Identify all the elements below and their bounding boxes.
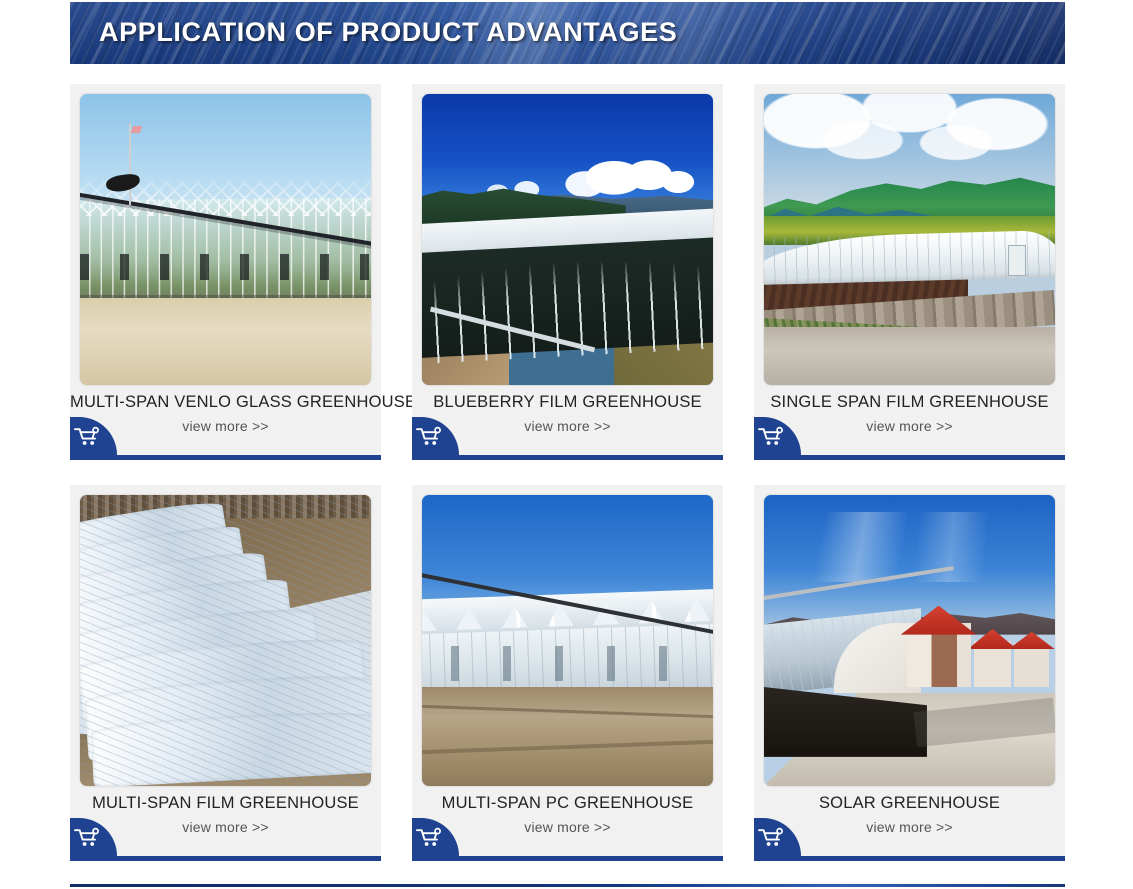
greenhouse-photo-venlo-glass [80, 94, 371, 385]
product-image[interactable] [422, 495, 713, 786]
view-more-link[interactable]: view more >> [754, 418, 1065, 434]
product-card[interactable]: MULTI-SPAN PC GREENHOUSE view more >> [412, 485, 723, 861]
product-image[interactable] [764, 495, 1055, 786]
shopping-cart-icon [416, 827, 443, 848]
greenhouse-photo-blueberry-film [422, 94, 713, 385]
product-card-body: SOLAR GREENHOUSE view more >> [754, 786, 1065, 856]
product-title: BLUEBERRY FILM GREENHOUSE [412, 393, 723, 412]
product-card-body: SINGLE SPAN FILM GREENHOUSE view more >> [754, 385, 1065, 455]
greenhouse-photo-solar [764, 495, 1055, 786]
product-card[interactable]: SOLAR GREENHOUSE view more >> [754, 485, 1065, 861]
shopping-cart-icon [416, 426, 443, 447]
view-more-link[interactable]: view more >> [754, 819, 1065, 835]
footer-divider [70, 884, 1065, 887]
product-row-2: MULTI-SPAN FILM GREENHOUSE view more >> [70, 485, 1065, 861]
view-more-link[interactable]: view more >> [412, 418, 723, 434]
view-more-link[interactable]: view more >> [70, 819, 381, 835]
product-image[interactable] [764, 94, 1055, 385]
product-title: SOLAR GREENHOUSE [754, 794, 1065, 813]
greenhouse-photo-multispan-film [80, 495, 371, 786]
shopping-cart-icon [74, 827, 101, 848]
product-title: MULTI-SPAN PC GREENHOUSE [412, 794, 723, 813]
product-card[interactable]: SINGLE SPAN FILM GREENHOUSE view more >> [754, 84, 1065, 460]
product-card-body: MULTI-SPAN PC GREENHOUSE view more >> [412, 786, 723, 856]
shopping-cart-icon [758, 426, 785, 447]
product-image[interactable] [422, 94, 713, 385]
product-card[interactable]: BLUEBERRY FILM GREENHOUSE view more >> [412, 84, 723, 460]
product-title: SINGLE SPAN FILM GREENHOUSE [754, 393, 1065, 412]
product-title: MULTI-SPAN VENLO GLASS GREENHOUSE [70, 393, 381, 412]
product-card-body: BLUEBERRY FILM GREENHOUSE view more >> [412, 385, 723, 455]
page-title: APPLICATION OF PRODUCT ADVANTAGES [99, 17, 677, 48]
product-grid: MULTI-SPAN VENLO GLASS GREENHOUSE view m… [70, 84, 1065, 861]
shopping-cart-icon [74, 426, 101, 447]
view-more-link[interactable]: view more >> [70, 418, 381, 434]
view-more-link[interactable]: view more >> [412, 819, 723, 835]
greenhouse-photo-multispan-pc [422, 495, 713, 786]
greenhouse-photo-single-span-film [764, 94, 1055, 385]
product-card[interactable]: MULTI-SPAN VENLO GLASS GREENHOUSE view m… [70, 84, 381, 460]
shopping-cart-icon [758, 827, 785, 848]
product-image[interactable] [80, 94, 371, 385]
section-header-banner: APPLICATION OF PRODUCT ADVANTAGES [70, 2, 1065, 64]
product-card-body: MULTI-SPAN VENLO GLASS GREENHOUSE view m… [70, 385, 381, 455]
product-title: MULTI-SPAN FILM GREENHOUSE [70, 794, 381, 813]
product-row-1: MULTI-SPAN VENLO GLASS GREENHOUSE view m… [70, 84, 1065, 460]
product-card[interactable]: MULTI-SPAN FILM GREENHOUSE view more >> [70, 485, 381, 861]
product-card-body: MULTI-SPAN FILM GREENHOUSE view more >> [70, 786, 381, 856]
product-image[interactable] [80, 495, 371, 786]
